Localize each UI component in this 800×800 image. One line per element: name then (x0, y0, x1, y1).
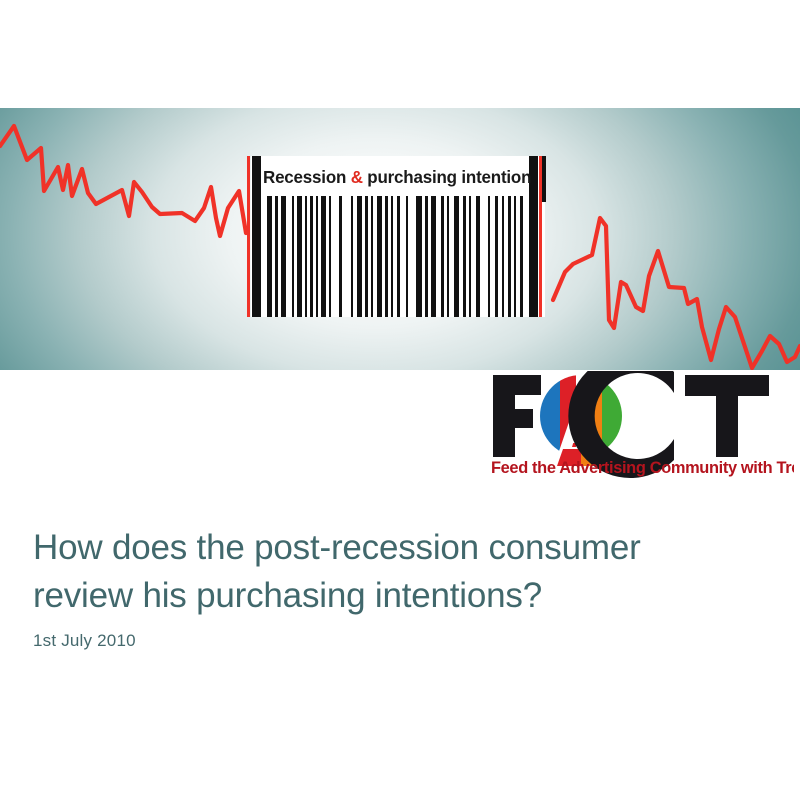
barcode-title-ampersand: & (351, 167, 363, 187)
barcode-graphic: Recession & purchasing intention (243, 156, 553, 317)
barcode-title-part-1: Recession (263, 167, 351, 187)
barcode-title: Recession & purchasing intention (263, 165, 527, 190)
fact-logo: Feed the Advertising Community with Tren… (489, 371, 794, 479)
publication-date: 1st July 2010 (33, 629, 136, 653)
trend-line-left (0, 126, 246, 236)
fact-logo-graphic: Feed the Advertising Community with Tren… (489, 371, 794, 479)
trend-line-right (553, 218, 800, 368)
barcode-title-part-2: purchasing intention (363, 167, 532, 187)
page-title-line-1: How does the post-recession consumer (33, 524, 763, 572)
page-title: How does the post-recession consumer rev… (33, 524, 763, 620)
fact-logo-tagline: Feed the Advertising Community with Tren… (491, 459, 794, 477)
page-title-line-2: review his purchasing intentions? (33, 572, 763, 620)
banner: Recession & purchasing intention (0, 108, 800, 370)
